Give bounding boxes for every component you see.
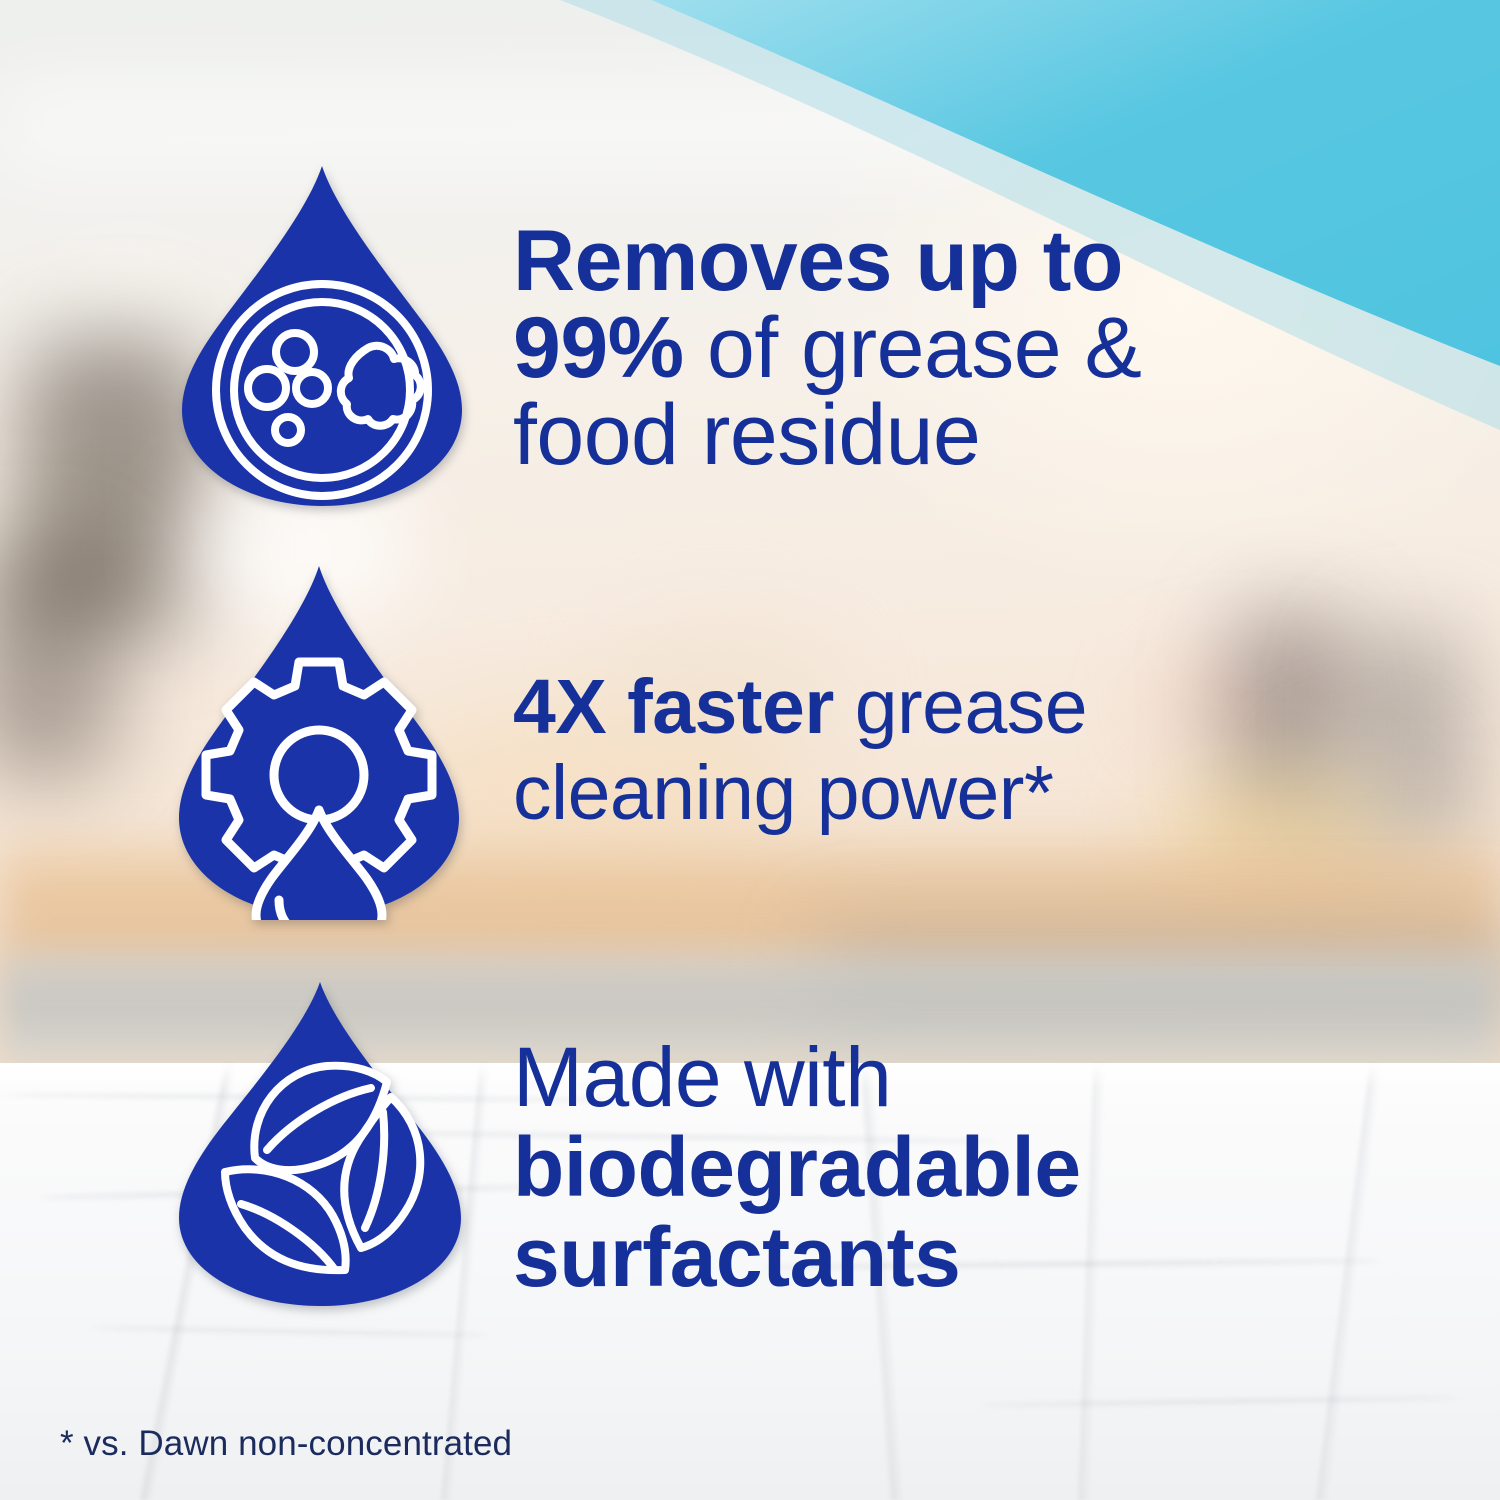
feature-2-line-1-bold: 4X faster	[513, 664, 834, 750]
feature-1-line-2: 99% of grease &	[513, 305, 1141, 392]
feature-2-line-1-reg: grease	[834, 664, 1087, 750]
feature-3-line-1-reg: Made with	[513, 1030, 891, 1124]
feature-icon-2-droplet	[175, 562, 463, 920]
feature-text-3: Made with biodegradable surfactants	[513, 1032, 1081, 1302]
feature-2-line-2: cleaning power*	[513, 750, 1087, 836]
feature-1-line-1-bold: Removes up to	[513, 213, 1123, 309]
feature-3-line-1: Made with	[513, 1032, 1081, 1122]
feature-1-line-1: Removes up to	[513, 218, 1141, 305]
feature-1-line-2-reg: of grease &	[684, 300, 1142, 396]
feature-icon-3-droplet	[175, 978, 465, 1310]
feature-2-line-1: 4X faster grease	[513, 664, 1087, 750]
feature-1-line-2-bold: 99%	[513, 300, 684, 396]
feature-list: Removes up to 99% of grease & food resid…	[0, 0, 1500, 1500]
feature-3-line-2-bold: biodegradable	[513, 1120, 1081, 1214]
feature-3-line-3: surfactants	[513, 1212, 1081, 1302]
feature-text-2: 4X faster grease cleaning power*	[513, 664, 1087, 836]
feature-3-line-3-bold: surfactants	[513, 1210, 960, 1304]
footnote-disclaimer: * vs. Dawn non-concentrated	[60, 1424, 512, 1464]
droplet-shape-1	[182, 166, 462, 506]
feature-3-line-2: biodegradable	[513, 1122, 1081, 1212]
feature-2-line-2-reg: cleaning power*	[513, 750, 1053, 836]
product-feature-graphic: Removes up to 99% of grease & food resid…	[0, 0, 1500, 1500]
feature-text-1: Removes up to 99% of grease & food resid…	[513, 218, 1141, 479]
feature-icon-1-droplet	[178, 162, 466, 510]
feature-1-line-3-reg: food residue	[513, 387, 980, 483]
feature-1-line-3: food residue	[513, 392, 1141, 479]
